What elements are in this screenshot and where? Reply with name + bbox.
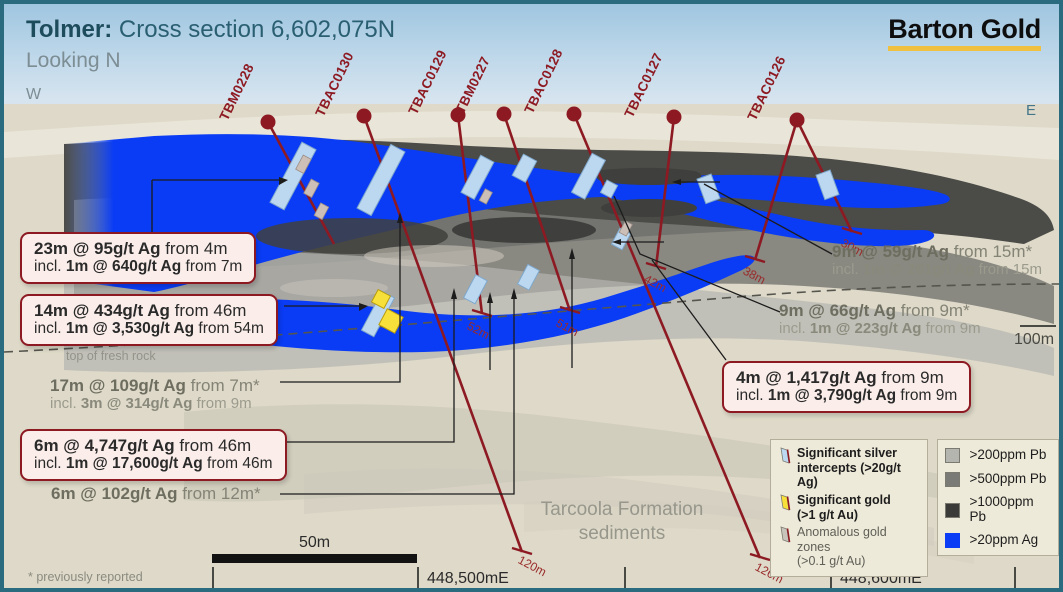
callout-line-primary: 6m @ 102g/t Ag from 12m* (51, 484, 261, 504)
logo-text: Barton Gold (888, 14, 1041, 45)
callout-incl-prefix: incl. (34, 320, 66, 337)
east-label: E (1026, 102, 1036, 119)
intercept-callout-c3: 17m @ 109g/t Ag from 7m*incl. 3m @ 314g/… (50, 376, 260, 412)
callout-line-primary: 17m @ 109g/t Ag from 7m* (50, 376, 260, 396)
callout-incl-prefix: incl. (34, 455, 66, 472)
depth-marker-tick (1020, 325, 1056, 327)
axis-tick (624, 567, 626, 588)
callout-incl-from-depth: from 7m (181, 258, 242, 275)
legend-label-line: (>0.1 g/t Au) (797, 554, 919, 569)
callout-line-included: incl. 3m @ 314g/t Ag from 9m (50, 395, 260, 412)
legend-label-line: Significant silver (797, 446, 919, 461)
depth-marker-100m: 100m (1014, 331, 1054, 349)
callout-interval: 6m @ 102g/t Ag (51, 484, 177, 503)
callout-from-depth: from 46m (175, 436, 252, 455)
callout-incl-prefix: incl. (736, 387, 768, 404)
legend-swatch-row: >20ppm Ag (945, 531, 1050, 548)
callout-line-included: incl. 1m @ 17,600g/t Ag from 46m (34, 455, 273, 473)
callout-from-depth: from 9m (877, 368, 944, 387)
callout-incl-from-depth: from 15m (974, 261, 1042, 278)
callout-line-primary: 14m @ 434g/t Ag from 46m (34, 301, 264, 321)
horizontal-scale-bar: 50m (212, 534, 417, 563)
footnote-previously-reported: * previously reported (28, 570, 143, 584)
callout-line-primary: 9m @ 66g/t Ag from 9m* (779, 301, 981, 321)
callout-incl-interval: 1m @ 640g/t Ag (66, 258, 181, 275)
callout-line-included: incl. 1m @ 223g/t Ag from 9m (779, 320, 981, 337)
callout-interval: 23m @ 95g/t Ag (34, 239, 160, 258)
callout-incl-interval: 1m @ 3,530g/t Ag (66, 320, 194, 337)
anomalous-gold-symbol (778, 526, 791, 543)
legend-label-line: (>1 g/t Au) (797, 508, 891, 523)
legend-row: Anomalous gold zones(>0.1 g/t Au) (778, 525, 919, 569)
formation-label: Tarcoola Formation sediments (522, 498, 722, 546)
intercept-callout-c7: 9m @ 66g/t Ag from 9m*incl. 1m @ 223g/t … (779, 301, 981, 337)
callout-line-included: incl. 1m @ 3,790g/t Ag from 9m (736, 387, 957, 405)
easting-label: 448,500mE (427, 570, 509, 588)
callout-line-primary: 4m @ 1,417g/t Ag from 9m (736, 368, 957, 388)
callout-line-primary: 23m @ 95g/t Ag from 4m (34, 239, 242, 259)
legend-label: Significant gold(>1 g/t Au) (797, 493, 891, 522)
intercept-callout-c4: 6m @ 4,747g/t Ag from 46mincl. 1m @ 17,6… (20, 429, 287, 481)
callout-incl-from-depth: from 46m (203, 455, 273, 472)
formation-label-line2: sediments (522, 522, 722, 546)
callout-interval: 4m @ 1,417g/t Ag (736, 368, 877, 387)
legend-swatch-row: >1000ppm Pb (945, 494, 1050, 524)
legend-swatch-row: >200ppm Pb (945, 446, 1050, 463)
scale-bar-rule (212, 554, 417, 563)
legend-label: Significant silverintercepts (>20g/t Ag) (797, 446, 919, 490)
callout-incl-from-depth: from 9m (921, 320, 980, 337)
callout-interval: 6m @ 4,747g/t Ag (34, 436, 175, 455)
legend-swatch-box: >200ppm Pb>500ppm Pb>1000ppm Pb>20ppm Ag (937, 439, 1059, 556)
fresh-rock-label: top of fresh rock (66, 349, 156, 363)
callout-line-included: incl. 1m @ 640g/t Ag from 7m (34, 258, 242, 276)
light-lens-2 (280, 279, 388, 297)
pb-200-swatch (945, 448, 960, 463)
callout-incl-interval: 1m @ 3,790g/t Ag (768, 387, 896, 404)
legend-swatch-row: >500ppm Pb (945, 470, 1050, 487)
intercept-callout-c6: 9m @ 59g/t Ag from 15m*incl. 1m @ 261g/t… (832, 242, 1042, 278)
depth-marker-label: 100m (1014, 331, 1054, 348)
intercept-callout-c2: 14m @ 434g/t Ag from 46mincl. 1m @ 3,530… (20, 294, 278, 346)
company-logo: Barton Gold (888, 14, 1041, 51)
callout-incl-from-depth: from 9m (192, 395, 251, 412)
legend-label: Anomalous gold zones(>0.1 g/t Au) (797, 525, 919, 569)
page-title: Tolmer: Cross section 6,602,075N (26, 16, 395, 44)
callout-from-depth: from 4m (160, 239, 227, 258)
axis-tick (417, 567, 419, 588)
callout-incl-interval: 1m @ 223g/t Ag (810, 320, 922, 337)
formation-label-line1: Tarcoola Formation (522, 498, 722, 522)
callout-incl-from-depth: from 9m (896, 387, 957, 404)
callout-line-included: incl. 1m @ 261g/t Ag from 15m (832, 261, 1042, 278)
silver-intercept-symbol (778, 447, 791, 464)
callout-interval: 9m @ 59g/t Ag (832, 242, 949, 261)
callout-incl-prefix: incl. (50, 395, 81, 412)
legend: Significant silverintercepts (>20g/t Ag)… (770, 439, 1059, 577)
callout-from-depth: from 46m (170, 301, 247, 320)
callout-from-depth: from 12m* (177, 484, 260, 503)
callout-incl-prefix: incl. (779, 320, 810, 337)
legend-swatch-label: >200ppm Pb (969, 447, 1046, 462)
legend-swatch-label: >20ppm Ag (969, 532, 1038, 547)
legend-label-line: Anomalous gold zones (797, 525, 919, 554)
callout-line-primary: 6m @ 4,747g/t Ag from 46m (34, 436, 273, 456)
legend-swatch-label: >500ppm Pb (969, 471, 1046, 486)
legend-symbol-box: Significant silverintercepts (>20g/t Ag)… (770, 439, 928, 577)
legend-row: Significant gold(>1 g/t Au) (778, 493, 919, 522)
legend-label-line: Significant gold (797, 493, 891, 508)
callout-incl-prefix: incl. (34, 258, 66, 275)
callout-line-included: incl. 1m @ 3,530g/t Ag from 54m (34, 320, 264, 338)
scale-bar-label: 50m (212, 534, 417, 552)
view-direction-subtitle: Looking N (26, 49, 121, 73)
callout-incl-interval: 1m @ 17,600g/t Ag (66, 455, 203, 472)
logo-underline (888, 46, 1041, 51)
callout-interval: 9m @ 66g/t Ag (779, 301, 896, 320)
axis-tick (212, 567, 214, 588)
intercept-callout-c5: 6m @ 102g/t Ag from 12m* (51, 484, 261, 504)
page-title-bold: Tolmer: (26, 16, 112, 43)
callout-from-depth: from 9m* (896, 301, 970, 320)
legend-row: Significant silverintercepts (>20g/t Ag) (778, 446, 919, 490)
callout-from-depth: from 7m* (186, 376, 260, 395)
callout-incl-prefix: incl. (832, 261, 863, 278)
intercept-callout-c8: 4m @ 1,417g/t Ag from 9mincl. 1m @ 3,790… (722, 361, 971, 413)
callout-line-primary: 9m @ 59g/t Ag from 15m* (832, 242, 1042, 262)
pb-1000-swatch (945, 503, 960, 518)
callout-interval: 14m @ 434g/t Ag (34, 301, 170, 320)
pb-500-swatch (945, 472, 960, 487)
ag-20-swatch (945, 533, 960, 548)
callout-incl-from-depth: from 54m (194, 320, 264, 337)
gold-intercept-symbol (778, 494, 791, 511)
legend-swatch-label: >1000ppm Pb (969, 494, 1050, 524)
callout-incl-interval: 3m @ 314g/t Ag (81, 395, 193, 412)
legend-label-line: intercepts (>20g/t Ag) (797, 461, 919, 490)
cross-section-figure: Tolmer: Cross section 6,602,075N Looking… (0, 0, 1063, 592)
intercept-callout-c1: 23m @ 95g/t Ag from 4mincl. 1m @ 640g/t … (20, 232, 256, 284)
light-lens-1 (364, 245, 504, 267)
callout-from-depth: from 15m* (949, 242, 1032, 261)
page-title-rest: Cross section 6,602,075N (112, 16, 395, 43)
west-label: W (26, 86, 41, 104)
callout-incl-interval: 1m @ 261g/t Ag (863, 261, 975, 278)
callout-interval: 17m @ 109g/t Ag (50, 376, 186, 395)
